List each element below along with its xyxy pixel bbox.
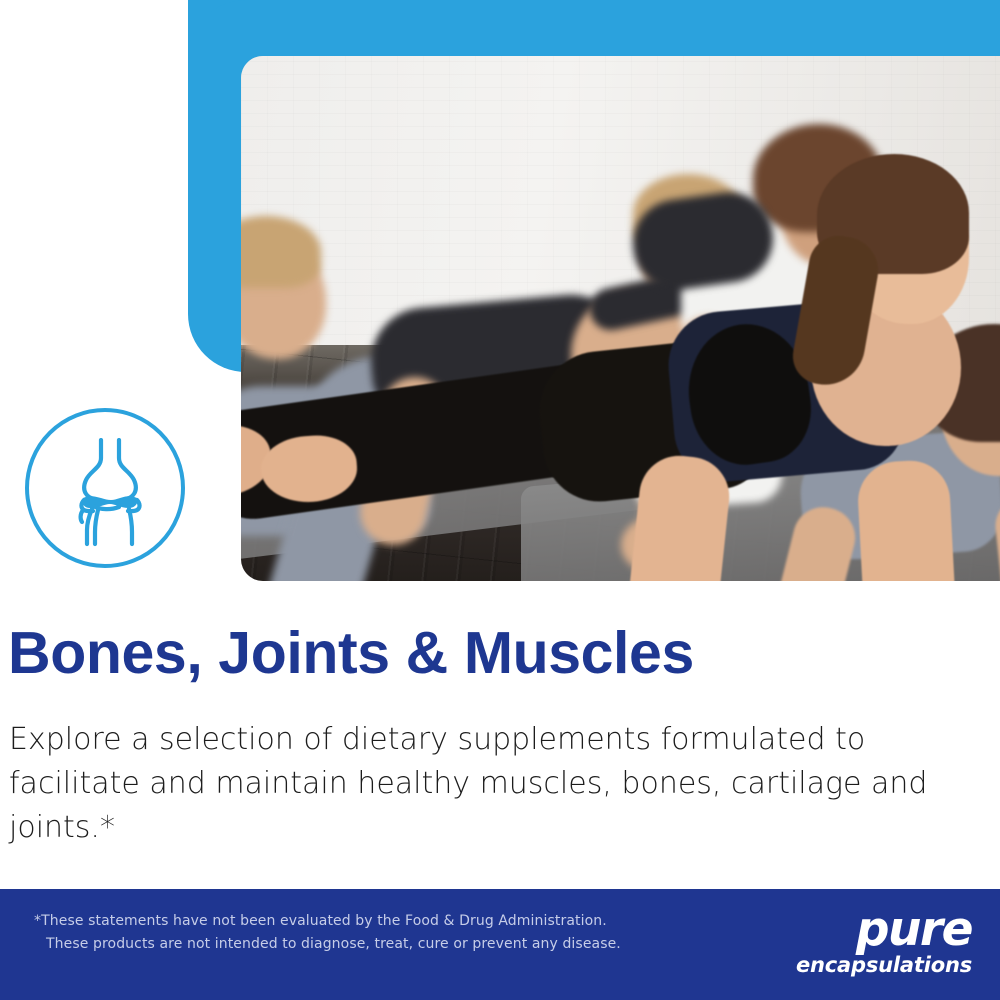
logo-subwordmark: encapsulations®	[757, 953, 972, 977]
bone-joint-icon-circle	[25, 408, 185, 568]
page-title: Bones, Joints & Muscles	[8, 619, 694, 687]
disclaimer-line-2: These products are not intended to diagn…	[34, 933, 621, 956]
disclaimer-line-1: *These statements have not been evaluate…	[34, 913, 607, 929]
fda-disclaimer: *These statements have not been evaluate…	[34, 910, 621, 956]
logo-wordmark: pure	[757, 907, 972, 953]
bone-joint-icon	[67, 438, 151, 548]
footer-bar: *These statements have not been evaluate…	[0, 889, 1000, 1000]
page-description: Explore a selection of dietary supplemen…	[9, 718, 949, 850]
foreground-person-arm	[856, 459, 958, 581]
pure-encapsulations-logo: pure encapsulations®	[757, 907, 972, 983]
hero-photo	[241, 56, 1000, 581]
logo-subwordmark-text: encapsulations	[796, 953, 972, 977]
marketing-banner: Bones, Joints & Muscles Explore a select…	[0, 0, 1000, 1000]
